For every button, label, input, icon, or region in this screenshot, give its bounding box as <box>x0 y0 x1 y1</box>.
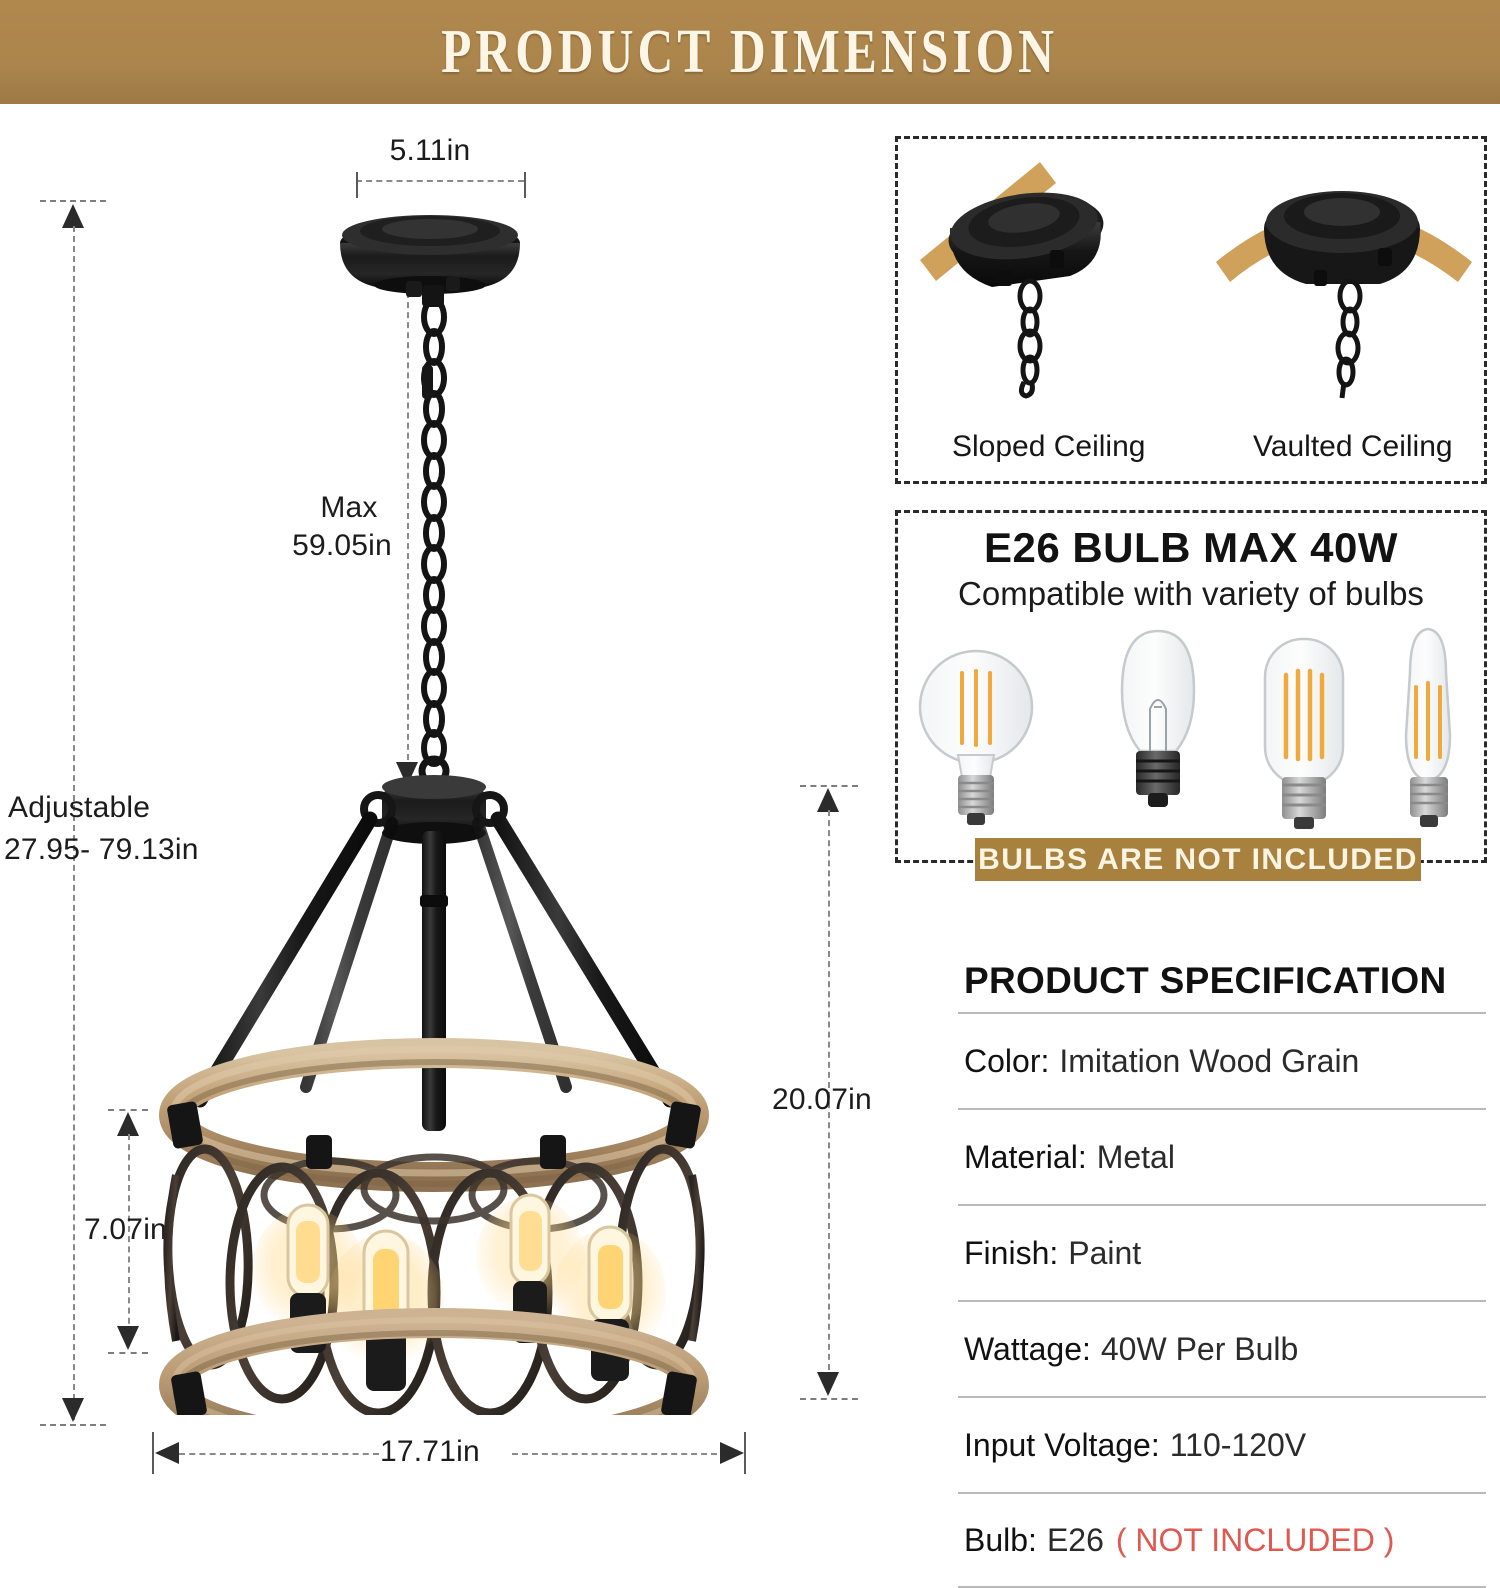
spec-value-finish: Paint <box>1068 1235 1141 1272</box>
spec-row-finish: Finish: Paint <box>958 1204 1486 1300</box>
vaulted-ceiling-icon <box>1210 150 1480 400</box>
fixture-width-text: 17.71in <box>380 1435 480 1468</box>
spec-key-finish: Finish: <box>964 1235 1058 1272</box>
tubular-bulb-icon <box>1265 639 1343 829</box>
bulb-panel-title-text: E26 BULB MAX 40W <box>984 524 1398 571</box>
spec-value-material: Metal <box>1097 1139 1175 1176</box>
spec-row-bulb: Bulb: E26 ( NOT INCLUDED ) <box>958 1492 1486 1588</box>
globe-bulb-icon <box>920 651 1032 825</box>
product-specification-section: PRODUCT SPECIFICATION Color: Imitation W… <box>958 960 1486 1588</box>
adjustable-label-text: Adjustable <box>8 791 150 824</box>
spec-key-material: Material: <box>964 1139 1087 1176</box>
spec-value-input-voltage: 110-120V <box>1170 1427 1306 1464</box>
fixture-height-text: 20.07in <box>772 1083 872 1116</box>
fixture-height-bottom-tick <box>800 1398 858 1400</box>
fixture-width-arrow-right <box>720 1442 744 1464</box>
page-header-banner: PRODUCT DIMENSION <box>0 0 1500 104</box>
spec-note-bulb: ( NOT INCLUDED ) <box>1116 1522 1395 1559</box>
spec-row-wattage: Wattage: 40W Per Bulb <box>958 1300 1486 1396</box>
adjustable-arrow-down <box>62 1398 84 1422</box>
suspension-hub-icon <box>364 759 504 1131</box>
adjustable-arrow-up <box>62 204 84 228</box>
fixture-width-tick-right <box>744 1432 746 1474</box>
bulb-panel-subtitle: Compatible with variety of bulbs <box>895 575 1487 613</box>
spec-key-bulb: Bulb: <box>964 1522 1037 1559</box>
spec-value-color: Imitation Wood Grain <box>1059 1043 1359 1080</box>
spec-row-input-voltage: Input Voltage: 110-120V <box>958 1396 1486 1492</box>
fixture-height-arrow-up <box>817 788 839 812</box>
spec-row-color: Color: Imitation Wood Grain <box>958 1012 1486 1108</box>
adjustable-label: Adjustable <box>8 790 150 827</box>
canopy-width-label: 5.11in <box>340 133 520 170</box>
fixture-height-top-tick <box>800 785 858 787</box>
canopy-width-guide <box>356 180 524 182</box>
fixture-width-guide-right <box>512 1453 717 1455</box>
bulb-lineup <box>910 625 1476 830</box>
vaulted-ceiling-caption-text: Vaulted Ceiling <box>1253 430 1453 463</box>
bulbs-not-included-text: BULBS ARE NOT INCLUDED <box>978 843 1418 877</box>
spec-key-wattage: Wattage: <box>964 1331 1091 1368</box>
fixture-width-guide-left <box>179 1453 379 1455</box>
bulb-panel-subtitle-text: Compatible with variety of bulbs <box>958 575 1424 612</box>
chain-clip <box>422 365 433 399</box>
spec-value-bulb: E26 <box>1047 1522 1104 1559</box>
specification-title: PRODUCT SPECIFICATION <box>958 960 1486 1012</box>
fixture-width-label: 17.71in <box>380 1434 480 1471</box>
sloped-ceiling-caption-text: Sloped Ceiling <box>952 430 1145 463</box>
fixture-width-tick-left <box>152 1432 154 1474</box>
spec-row-material: Material: Metal <box>958 1108 1486 1204</box>
standard-a19-bulb-icon <box>1122 631 1194 807</box>
adjustable-top-tick <box>40 200 106 202</box>
fixture-height-arrow-down <box>817 1372 839 1396</box>
fixture-height-label: 20.07in <box>772 1082 872 1119</box>
infographic-canvas: PRODUCT DIMENSION Adjustable 27.95- 79.1… <box>0 0 1500 1500</box>
page-title: PRODUCT DIMENSION <box>442 17 1059 88</box>
bulb-panel-title: E26 BULB MAX 40W <box>895 524 1487 572</box>
sloped-ceiling-caption: Sloped Ceiling <box>952 430 1145 464</box>
ceiling-canopy-icon <box>340 215 520 307</box>
canopy-width-text: 5.11in <box>390 134 471 167</box>
vaulted-ceiling-caption: Vaulted Ceiling <box>1253 430 1453 464</box>
fixture-width-arrow-left <box>155 1442 179 1464</box>
spec-key-input-voltage: Input Voltage: <box>964 1427 1160 1464</box>
chandelier-illustration <box>130 195 770 1415</box>
spec-key-color: Color: <box>964 1043 1049 1080</box>
adjustable-bottom-tick <box>40 1424 106 1426</box>
bulbs-not-included-badge: BULBS ARE NOT INCLUDED <box>975 838 1421 881</box>
sloped-ceiling-icon <box>910 150 1190 400</box>
edison-st64-bulb-icon <box>1406 629 1450 827</box>
spec-value-wattage: 40W Per Bulb <box>1101 1331 1298 1368</box>
bulb-group <box>252 1195 666 1391</box>
